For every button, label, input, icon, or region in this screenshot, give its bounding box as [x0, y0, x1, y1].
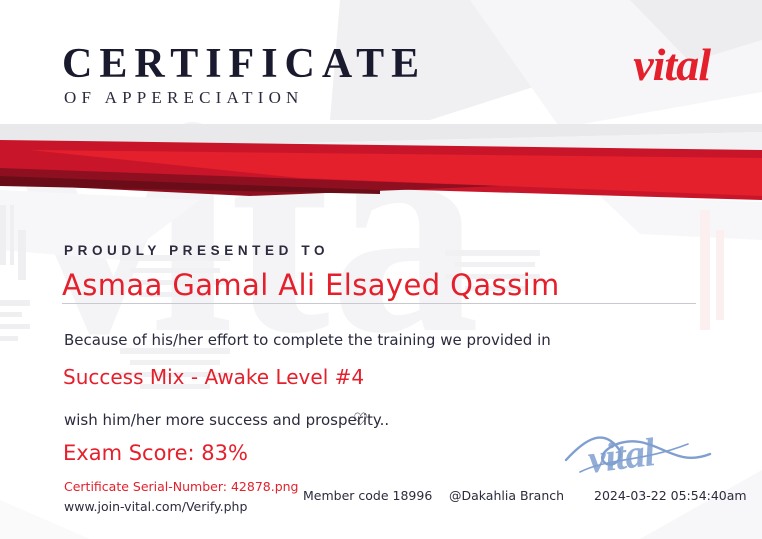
recipient-divider — [62, 303, 696, 304]
verify-url[interactable]: www.join-vital.com/Verify.php — [64, 499, 247, 514]
certificate-document: V i t a — [0, 0, 762, 539]
recipient-name: Asmaa Gamal Ali Elsayed Qassim — [62, 268, 560, 302]
wish-text: wish him/her more success and prosperity… — [64, 411, 389, 429]
certificate-subtitle: OF APPERECIATION — [64, 88, 304, 108]
course-name: Success Mix - Awake Level #4 — [63, 365, 364, 389]
presented-to-label: PROUDLY PRESENTED TO — [64, 243, 329, 258]
brand-logo: vital — [633, 38, 710, 91]
certificate-title: CERTIFICATE — [62, 40, 426, 88]
certificate-serial-number: Certificate Serial-Number: 42878.png — [64, 479, 299, 494]
signature-text: vital — [585, 428, 656, 483]
branch-name: @Dakahlia Branch — [449, 488, 564, 503]
heart-icon: ♡ — [353, 410, 368, 430]
issue-timestamp: 2024-03-22 05:54:40am — [594, 488, 747, 503]
member-code: Member code 18996 — [303, 488, 432, 503]
reason-text: Because of his/her effort to complete th… — [64, 331, 551, 349]
exam-score: Exam Score: 83% — [63, 441, 248, 465]
